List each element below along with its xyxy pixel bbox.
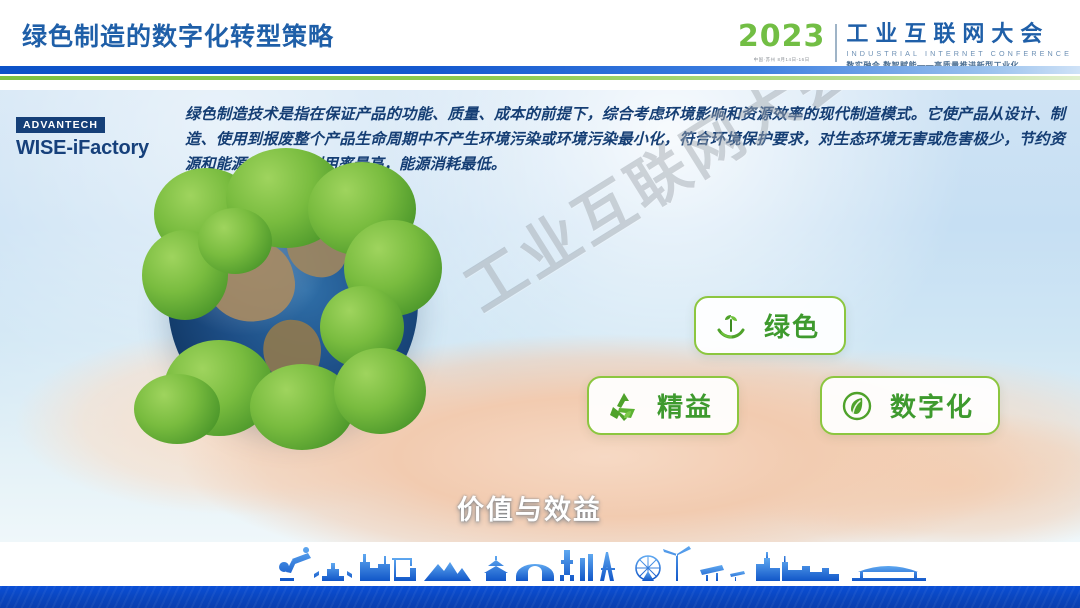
conference-name-cn: 工业互联网大会	[846, 22, 1072, 46]
value-section-title: 价值与效益	[457, 488, 602, 527]
slide-body: ADVANTECH WISE-iFactory 绿色制造技术是指在保证产品的功能…	[0, 90, 1080, 542]
slide-header: 绿色制造的数字化转型策略 2023 中国·苏州 8月14日-16日 工业互联网大…	[0, 0, 1080, 90]
conference-name-block: 工业互联网大会 INDUSTRIAL INTERNET CONFERENCE 数…	[846, 22, 1072, 71]
page-title: 绿色制造的数字化转型策略	[22, 17, 334, 53]
slide-root: 绿色制造的数字化转型策略 2023 中国·苏州 8月14日-16日 工业互联网大…	[0, 0, 1080, 608]
conference-name-en: INDUSTRIAL INTERNET CONFERENCE	[846, 49, 1072, 58]
earth-globe-icon	[168, 178, 418, 428]
feature-badge-lean[interactable]: 精益	[587, 376, 739, 435]
foliage-cluster	[134, 374, 220, 444]
foliage-cluster	[334, 348, 426, 434]
logo-divider	[835, 24, 837, 62]
conference-year: 2023	[738, 22, 826, 52]
feature-badge-label: 数字化	[890, 387, 974, 424]
feature-badge-label: 绿色	[764, 307, 820, 344]
slide-footer	[0, 542, 1080, 608]
wise-ifactory-label: WISE-iFactory	[16, 137, 166, 159]
leaf-circle-icon	[840, 389, 874, 423]
feature-badge-digital[interactable]: 数字化	[820, 376, 1000, 435]
conference-year-block: 2023 中国·苏州 8月14日-16日	[738, 22, 836, 63]
conference-date-location: 中国·苏州 8月14日-16日	[738, 57, 826, 63]
plant-in-hand-icon	[714, 309, 748, 343]
header-rule-green	[0, 76, 1080, 80]
footer-blue-bar	[0, 586, 1080, 608]
header-rule-blue	[0, 66, 1080, 74]
feature-badge-green[interactable]: 绿色	[694, 296, 846, 355]
city-skyline-icon	[0, 542, 1080, 586]
foliage-cluster	[198, 208, 272, 274]
feature-badge-label: 精益	[657, 387, 713, 424]
advantech-wordmark: ADVANTECH	[16, 117, 105, 133]
recycle-leaf-icon	[607, 389, 641, 423]
advantech-logo: ADVANTECH WISE-iFactory	[16, 115, 166, 159]
hero-image-green-earth-in-hand	[0, 160, 1080, 542]
